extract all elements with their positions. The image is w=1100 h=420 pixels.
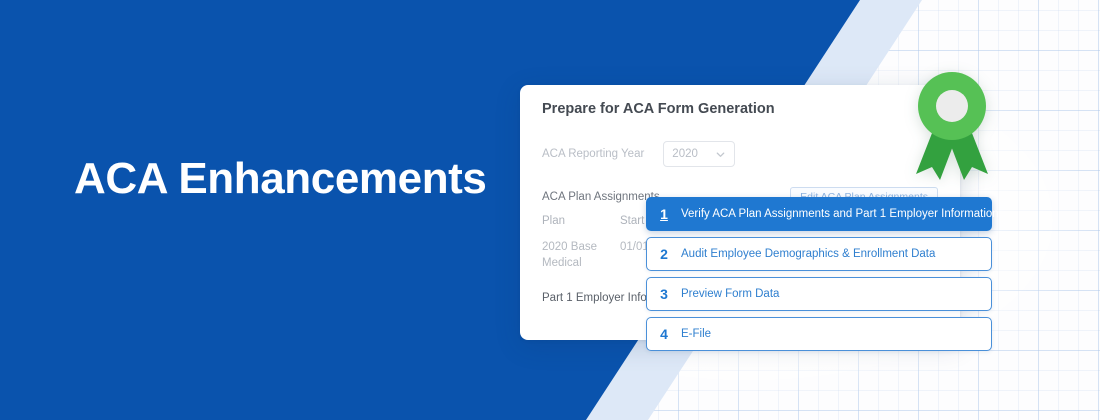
reporting-year-label: ACA Reporting Year — [542, 148, 644, 160]
page-title: ACA Enhancements — [74, 156, 487, 202]
reporting-year-select[interactable]: 2020 — [663, 141, 735, 167]
card-title: Prepare for ACA Form Generation — [542, 101, 775, 117]
column-header-plan: Plan — [542, 215, 620, 227]
step-label-2: Audit Employee Demographics & Enrollment… — [681, 248, 935, 260]
chevron-down-icon — [715, 149, 726, 160]
step-number-4: 4 — [647, 326, 681, 342]
step-number-2: 2 — [647, 246, 681, 262]
part1-employer-info-label: Part 1 Employer Infor — [542, 292, 651, 304]
aca-enhancements-banner: ACA Enhancements Prepare for ACA Form Ge… — [0, 0, 1100, 420]
step-item-1[interactable]: 1 Verify ACA Plan Assignments and Part 1… — [646, 197, 992, 231]
reporting-year-row: ACA Reporting Year 2020 — [542, 141, 735, 167]
step-number-1: 1 — [647, 206, 681, 222]
steps-list: 1 Verify ACA Plan Assignments and Part 1… — [646, 197, 992, 357]
award-ribbon-icon — [908, 62, 996, 182]
step-label-1: Verify ACA Plan Assignments and Part 1 E… — [681, 208, 999, 220]
step-number-3: 3 — [647, 286, 681, 302]
step-item-4[interactable]: 4 E-File — [646, 317, 992, 351]
cell-plan-name: 2020 Base Medical — [542, 240, 620, 271]
plan-assignments-label: ACA Plan Assignments — [542, 191, 660, 203]
step-item-3[interactable]: 3 Preview Form Data — [646, 277, 992, 311]
step-item-2[interactable]: 2 Audit Employee Demographics & Enrollme… — [646, 237, 992, 271]
step-label-3: Preview Form Data — [681, 288, 779, 300]
reporting-year-value: 2020 — [672, 148, 698, 160]
step-label-4: E-File — [681, 328, 711, 340]
